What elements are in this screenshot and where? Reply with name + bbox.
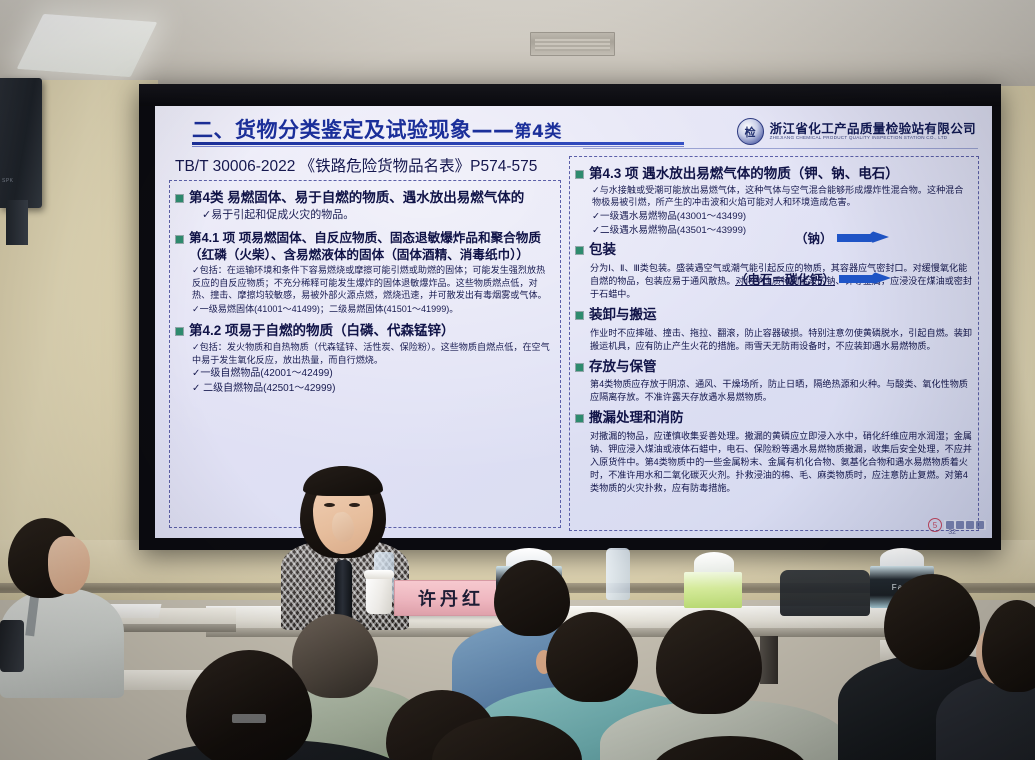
microphone-base — [327, 620, 360, 634]
company-name-cn: 浙江省化工产品质量检验站有限公司 — [770, 123, 976, 136]
audience-desk — [880, 640, 1035, 660]
classroom-scene: SPK 二、货物分类鉴定及试验现象——第4类 检 浙江省化工产品质量检验站有限公… — [0, 0, 1035, 760]
left-sub-3-2: ✓一级自燃物品(42001～42499) — [192, 367, 554, 381]
left-sub-2-1: ✓包括：在运输环境和条件下容易燃烧或摩擦可能引燃或助燃的固体；可能发生强烈放热反… — [192, 264, 554, 302]
square-bullet-icon — [576, 247, 583, 254]
square-bullet-icon — [176, 236, 183, 243]
attendee-face — [976, 626, 1018, 684]
bullet-item: 撒漏处理和消防 — [576, 409, 972, 427]
slide-title-sub: 第4类 — [515, 122, 562, 142]
right-sub-1-1: ✓与水接触或受潮可能放出易燃气体，这种气体与空气混合能够形成爆炸性混合物。这种混… — [592, 184, 972, 209]
right-heading-1: 第4.3 项 遇水放出易燃气体的物质（钾、钠、电石） — [589, 165, 899, 183]
company-name-en: ZHEJIANG CHEMICAL PRODUCT QUALITY INSPEC… — [770, 136, 976, 141]
attendee-head — [386, 690, 498, 760]
screen-capture-toolbar-overlay[interactable]: 5 — [928, 518, 986, 532]
audience-desk — [30, 608, 236, 626]
bullet-item: 装卸与搬运 — [576, 306, 972, 324]
left-heading-2: 第4.1 项 项易燃固体、自反应物质、固态退敏爆炸品和聚合物质（红磷（火柴）、含… — [189, 230, 554, 263]
bullet-item: 第4.2 项易于自燃的物质（白磷、代森锰锌） — [176, 322, 554, 340]
presenter-table-edge — [206, 628, 900, 637]
attendee-head — [546, 612, 638, 702]
overlay-icon-3[interactable] — [966, 521, 974, 529]
arrow-right-icon — [839, 271, 891, 286]
left-sub-1-1: ✓易于引起和促成火灾的物品。 — [202, 208, 554, 223]
record-icon[interactable]: 5 — [928, 518, 942, 532]
callout-sodium: （钠） — [795, 228, 889, 247]
projection-screen-valance — [139, 84, 1001, 106]
wall-rail — [0, 583, 1035, 593]
bullet-item: 第4.1 项 项易燃固体、自反应物质、固态退敏爆炸品和聚合物质（红磷（火柴）、含… — [176, 230, 554, 263]
speaker-brand-mark: SPK — [2, 178, 14, 184]
right-body-5: 对撒漏的物品，应谨慎收集妥善处理。撒漏的黄磷应立即浸入水中，硝化纤维应用水润湿；… — [590, 430, 972, 495]
paper-handout — [91, 604, 162, 618]
slide-page-number: 32 — [948, 529, 956, 536]
left-heading-3: 第4.2 项易于自燃的物质（白磷、代森锰锌） — [189, 322, 455, 340]
overlay-icon-1[interactable] — [946, 521, 954, 529]
ceiling-light-panel — [17, 14, 158, 77]
audience-desk — [0, 670, 205, 690]
bullet-item: 第4.3 项 遇水放出易燃气体的物质（钾、钠、电石） — [576, 165, 972, 183]
right-body-3: 作业时不应摔碰、撞击、拖拉、翻滚，防止容器破损。特别注意勿使黄磷脱水，引起自燃。… — [590, 327, 972, 353]
bullet-item: 包装 — [576, 241, 972, 259]
standard-reference-line: TB/T 30006-2022 《铁路危险货物品名表》P574-575 — [175, 154, 537, 176]
callout-sodium-label: （钠） — [795, 228, 833, 247]
speaker-mount-bracket — [6, 200, 28, 245]
left-sub-3-3: ✓ 二级自燃物品(42501～42999) — [192, 382, 554, 396]
attendee-torso — [120, 740, 420, 760]
presentation-slide[interactable]: 二、货物分类鉴定及试验现象——第4类 检 浙江省化工产品质量检验站有限公司 ZH… — [155, 106, 992, 538]
logo-divider — [583, 148, 978, 149]
left-sub-3-1: ✓包括：发火物质和自热物质（代森锰锌、活性炭、保险粉）。这些物质自燃点低，在空气… — [192, 341, 554, 366]
left-sub-2-2: ✓一级易燃固体(41001～41499)；二级易燃固体(41501～41999)… — [192, 303, 554, 316]
audience-desk-edge — [30, 624, 236, 632]
right-sub-1-3: ✓二级遇水易燃物品(43501～43999) — [592, 224, 972, 237]
right-heading-5: 撒漏处理和消防 — [589, 409, 684, 427]
presenter-table — [206, 606, 900, 631]
company-seal-icon: 检 — [737, 118, 764, 145]
callout-carbide: （电石＝碳化钙） — [735, 269, 891, 288]
bullet-item: 存放与保管 — [576, 358, 972, 376]
square-bullet-icon — [176, 195, 183, 202]
overlay-icon-4[interactable] — [976, 521, 984, 529]
square-bullet-icon — [576, 415, 583, 422]
attendee-torso — [600, 700, 850, 760]
attendee-head — [656, 610, 762, 714]
attendee-torso — [246, 684, 424, 760]
arrow-right-icon — [837, 230, 889, 245]
attendee-head — [432, 716, 582, 760]
bullet-item: 第4类 易燃固体、易于自燃的物质、遇水放出易燃气体的 — [176, 189, 554, 207]
attendee-torso — [936, 676, 1035, 760]
attendee-head — [982, 600, 1035, 692]
title-underline-thin — [192, 146, 684, 147]
attendee-torso — [330, 748, 560, 760]
wall-right — [995, 86, 1035, 556]
square-bullet-icon — [576, 171, 583, 178]
attendee-head — [292, 614, 378, 698]
left-content-box: 第4类 易燃固体、易于自燃的物质、遇水放出易燃气体的 ✓易于引起和促成火灾的物品… — [169, 180, 561, 528]
left-heading-1: 第4类 易燃固体、易于自燃的物质、遇水放出易燃气体的 — [189, 189, 524, 207]
table-leg — [760, 636, 778, 684]
square-bullet-icon — [176, 328, 183, 335]
right-heading-4: 存放与保管 — [589, 358, 657, 376]
right-heading-2: 包装 — [589, 241, 616, 259]
square-bullet-icon — [576, 312, 583, 319]
attendee-ear — [536, 650, 552, 674]
right-heading-3: 装卸与搬运 — [589, 306, 657, 324]
title-underline — [192, 142, 684, 145]
attendee-head — [650, 736, 810, 760]
right-body-4: 第4类物质应存放于阴凉、通风、干燥场所，防止日晒，隔绝热源和火种。与酸类、氧化性… — [590, 378, 972, 404]
company-logo-text: 浙江省化工产品质量检验站有限公司 ZHEJIANG CHEMICAL PRODU… — [770, 123, 976, 141]
attendee-torso — [476, 686, 696, 760]
table-leg — [330, 636, 348, 691]
attendee-head — [186, 650, 312, 760]
overlay-icon-2[interactable] — [956, 521, 964, 529]
water-bottle-3 — [0, 620, 24, 672]
square-bullet-icon — [576, 364, 583, 371]
slide-title-main: 二、货物分类鉴定及试验现象—— — [192, 118, 515, 142]
attendee-torso — [452, 622, 620, 722]
slide-title: 二、货物分类鉴定及试验现象——第4类 — [192, 114, 562, 144]
callout-carbide-label: （电石＝碳化钙） — [735, 269, 835, 288]
company-logo: 检 浙江省化工产品质量检验站有限公司 ZHEJIANG CHEMICAL PRO… — [737, 118, 976, 145]
right-sub-1-2: ✓一级遇水易燃物品(43001～43499) — [592, 210, 972, 223]
right-content-box: 第4.3 项 遇水放出易燃气体的物质（钾、钠、电石） ✓与水接触或受潮可能放出易… — [569, 156, 979, 531]
attendee-torso — [0, 588, 124, 698]
attendee-torso — [838, 654, 1035, 760]
wall-speaker: SPK — [0, 78, 42, 208]
jacket-logo — [232, 714, 266, 723]
air-vent-icon — [530, 32, 615, 56]
